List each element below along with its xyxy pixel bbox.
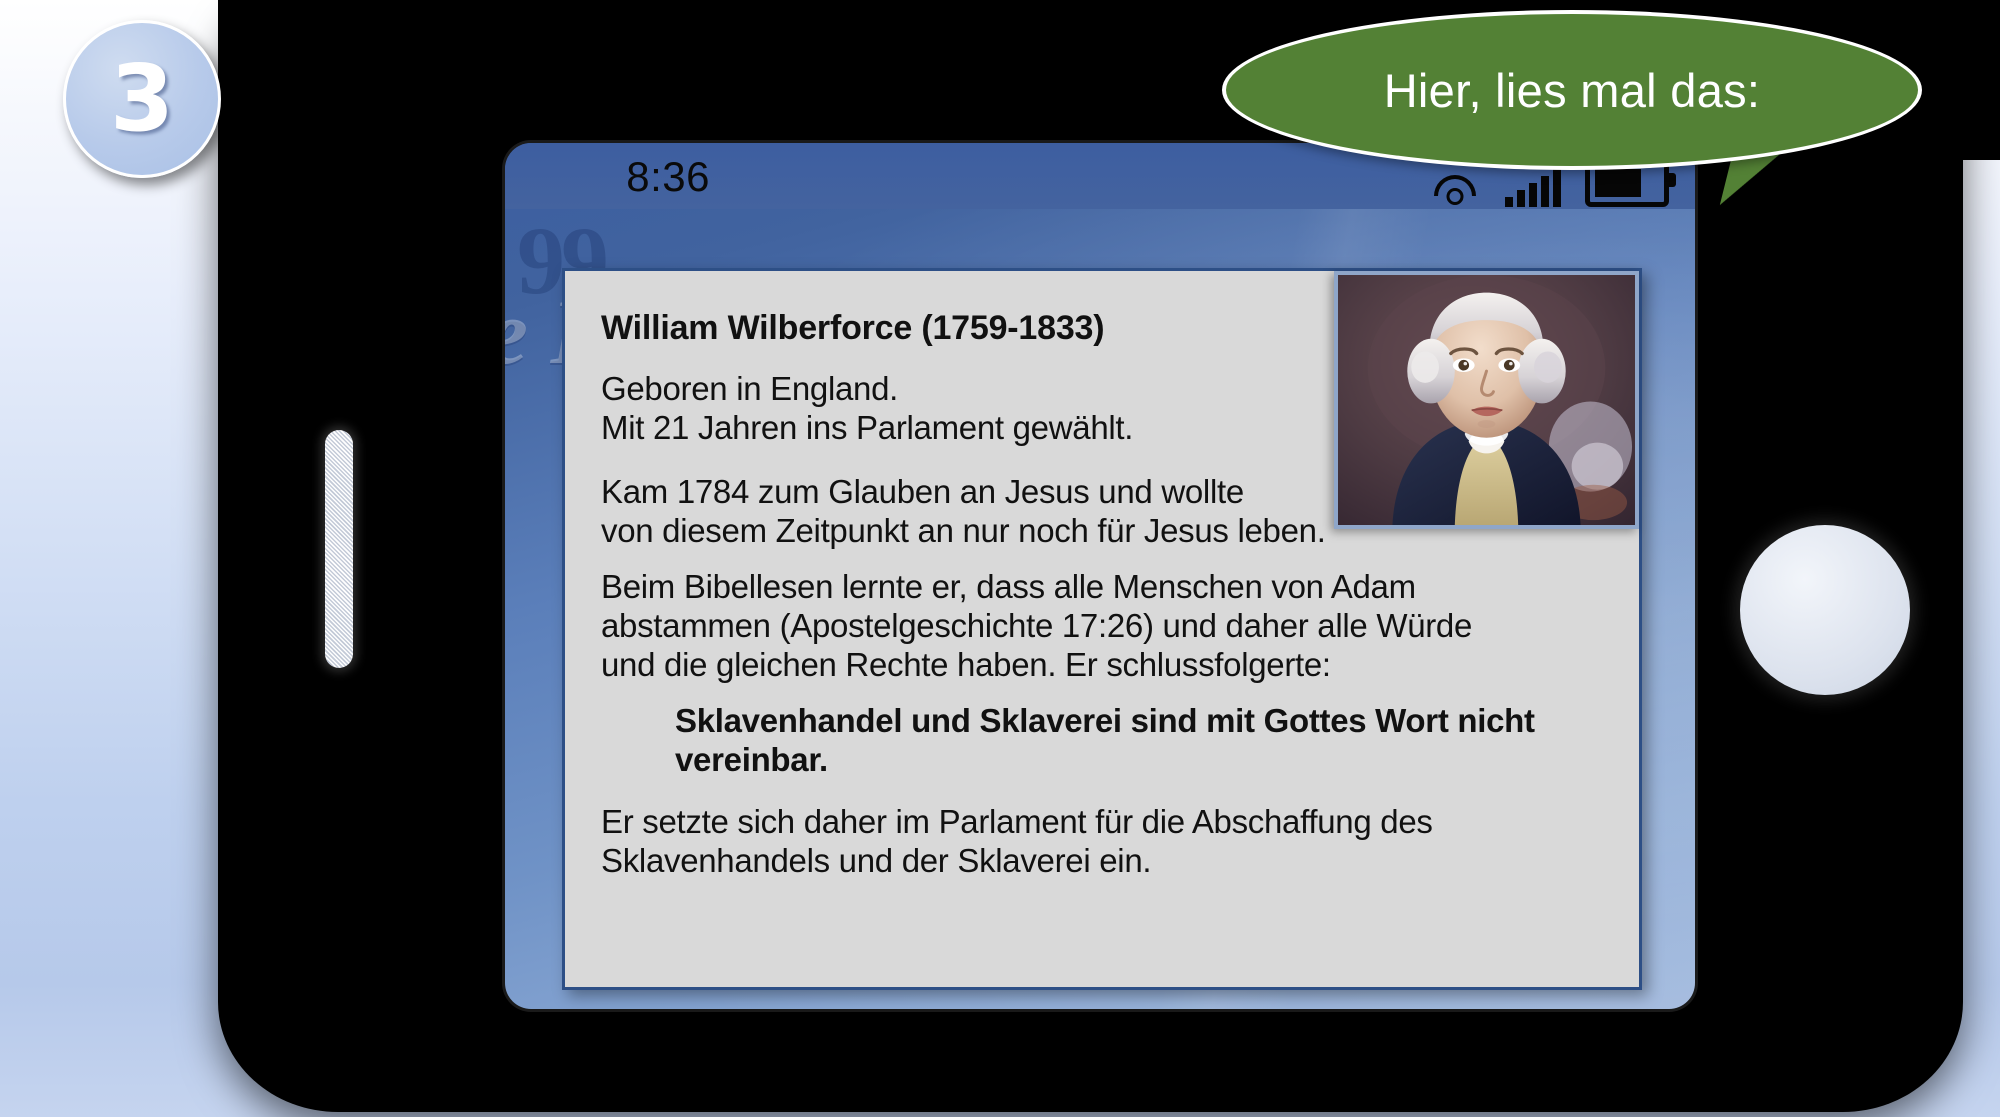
info-card: William Wilberforce (1759-1833) Geboren … — [562, 268, 1642, 990]
status-clock: 8:36 — [505, 153, 710, 201]
speech-bubble-text: Hier, lies mal das: — [1384, 63, 1761, 118]
card-closing-paragraph: Er setzte sich daher im Parlament für di… — [601, 803, 1605, 880]
slide-canvas: 99 e Bible s me 8:36 — [0, 0, 2000, 1117]
speech-bubble: Hier, lies mal das: — [1222, 10, 1922, 210]
portrait-william-wilberforce — [1334, 271, 1639, 529]
speaker-grille — [325, 430, 353, 668]
slide-number-badge: 3 — [63, 20, 221, 178]
home-button[interactable] — [1740, 525, 1910, 695]
card-paragraph-3: Beim Bibellesen lernte er, dass alle Men… — [601, 568, 1605, 684]
speech-bubble-body: Hier, lies mal das: — [1222, 10, 1922, 170]
card-quote: Sklavenhandel und Sklaverei sind mit Got… — [675, 702, 1605, 779]
slide-number-label: 3 — [110, 53, 174, 145]
